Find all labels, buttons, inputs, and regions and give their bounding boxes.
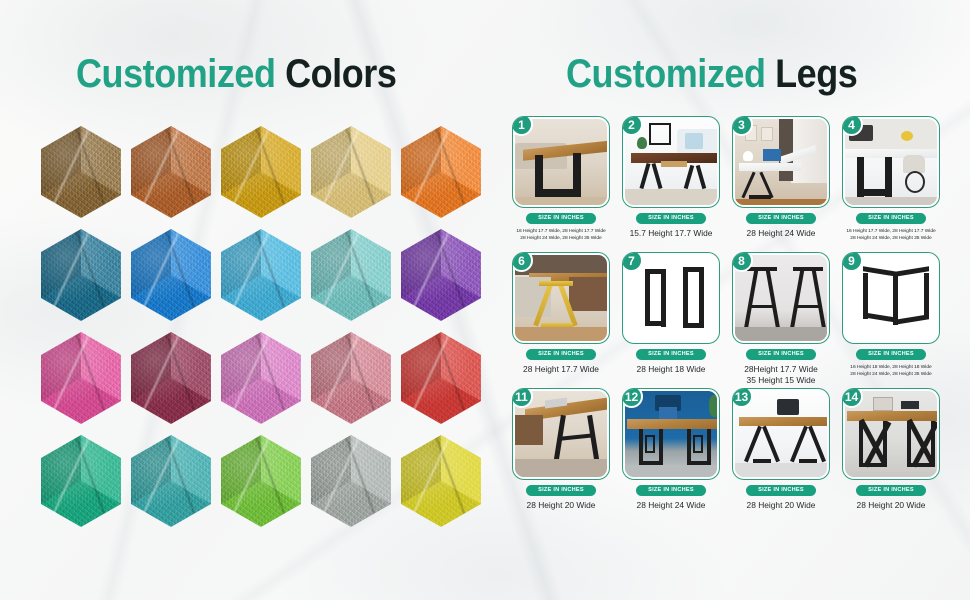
rug-shape bbox=[515, 459, 607, 477]
swatch-crease bbox=[41, 126, 121, 218]
leg-l-link bbox=[645, 435, 655, 453]
leg-card-6[interactable]: 6SIZE IN INCHES28 Height 17.7 Wide bbox=[508, 252, 614, 387]
color-swatch-orchid-pink[interactable] bbox=[221, 332, 301, 424]
color-swatch-lime-green[interactable] bbox=[221, 435, 301, 527]
leg-photo-frame[interactable]: 7 bbox=[622, 252, 720, 344]
leg-photo-frame[interactable]: 1 bbox=[512, 116, 610, 208]
desk-top bbox=[739, 163, 801, 171]
leg-r-link bbox=[693, 435, 703, 453]
leg-a-right bbox=[661, 273, 666, 327]
color-swatch-cell bbox=[126, 328, 216, 431]
swatch-crease bbox=[401, 229, 481, 321]
leg-b-left bbox=[683, 267, 688, 325]
leg-size-text: 16 Height 18 Wide, 28 Height 18 Wide 28 … bbox=[838, 364, 944, 379]
color-swatch-magenta-pink[interactable] bbox=[41, 332, 121, 424]
keyboard bbox=[901, 401, 919, 409]
bottom-bar-right bbox=[895, 314, 929, 324]
leg-r-foot bbox=[907, 463, 935, 467]
page-title-colors: Customized Colors bbox=[76, 52, 396, 97]
swatch-crease bbox=[221, 126, 301, 218]
swatch-crease bbox=[41, 229, 121, 321]
swatch-crease bbox=[41, 332, 121, 424]
leg-photo-frame[interactable]: 13 bbox=[732, 388, 830, 480]
leg-card-11[interactable]: 11SIZE IN INCHES28 Height 20 Wide bbox=[508, 388, 614, 523]
leg-a-left bbox=[645, 269, 650, 325]
color-swatch-grid bbox=[36, 122, 486, 534]
color-swatch-cell bbox=[306, 122, 396, 225]
leg-r-inner bbox=[707, 429, 711, 463]
floor bbox=[735, 327, 827, 341]
color-swatch-sky-blue[interactable] bbox=[221, 229, 301, 321]
swatch-crease bbox=[131, 332, 211, 424]
color-swatch-royal-blue[interactable] bbox=[131, 229, 211, 321]
color-swatch-cell bbox=[396, 328, 486, 431]
leg-a-top bbox=[645, 269, 666, 274]
leg-r-outer bbox=[687, 429, 691, 463]
desk-brace bbox=[561, 433, 593, 440]
color-swatch-cell bbox=[396, 122, 486, 225]
leg-b-right bbox=[699, 271, 704, 327]
leg-size-text: 28 Height 20 Wide bbox=[838, 500, 944, 511]
color-swatch-cell bbox=[36, 431, 126, 534]
plant-shape bbox=[637, 137, 647, 149]
leg-card-9[interactable]: 9SIZE IN INCHES16 Height 18 Wide, 28 Hei… bbox=[838, 252, 944, 387]
leg-a-top bbox=[747, 267, 777, 271]
leg-l-a bbox=[744, 426, 762, 463]
color-swatch-lemon-yellow[interactable] bbox=[401, 435, 481, 527]
color-swatch-violet-purple[interactable] bbox=[401, 229, 481, 321]
wall-frame-b bbox=[761, 127, 773, 141]
leg-card-12[interactable]: 12SIZE IN INCHES28 Height 24 Wide bbox=[618, 388, 724, 523]
color-swatch-cell bbox=[36, 122, 126, 225]
leg-size-text: 15.7 Height 17.7 Wide bbox=[618, 228, 724, 239]
monitor bbox=[777, 399, 799, 415]
leg-a-left bbox=[744, 269, 759, 331]
picture-frame bbox=[873, 397, 893, 411]
page-title-legs: Customized Legs bbox=[566, 52, 857, 97]
floor-wood bbox=[515, 327, 607, 341]
leg-size-text: 28 Height 20 Wide bbox=[508, 500, 614, 511]
sofa-brown bbox=[569, 277, 607, 311]
swatch-crease bbox=[221, 332, 301, 424]
leg-photo-frame[interactable]: 3 bbox=[732, 116, 830, 208]
desk-leg-b bbox=[587, 415, 600, 465]
floor bbox=[845, 197, 937, 205]
curtain-dark bbox=[779, 119, 793, 181]
leg-card-4[interactable]: 4SIZE IN INCHES16 Height 17.7 Wide, 28 H… bbox=[838, 116, 944, 251]
vase bbox=[743, 151, 753, 161]
color-swatch-dusty-rose[interactable] bbox=[311, 332, 391, 424]
table-leg-foot bbox=[535, 189, 581, 197]
color-swatch-cell bbox=[306, 328, 396, 431]
desk-top bbox=[627, 419, 717, 429]
leg-size-text: 28 Height 20 Wide bbox=[728, 500, 834, 511]
swatch-crease bbox=[311, 229, 391, 321]
floor-wood bbox=[735, 199, 827, 205]
color-swatch-cell bbox=[126, 225, 216, 328]
swatch-crease bbox=[401, 332, 481, 424]
leg-right-a bbox=[684, 165, 694, 189]
gold-top-bar bbox=[539, 281, 573, 286]
leg-card-13[interactable]: 13SIZE IN INCHES28 Height 20 Wide bbox=[728, 388, 834, 523]
laptop-screen bbox=[763, 149, 781, 161]
leg-size-text: 28 Height 17.7 Wide bbox=[508, 364, 614, 375]
leg-size-text: 28 Height 18 Wide bbox=[618, 364, 724, 375]
leg-b-left bbox=[790, 269, 805, 331]
size-in-inches-badge: SIZE IN INCHES bbox=[746, 485, 816, 496]
leg-size-text: 28Height 17.7 Wide 35 Height 15 Wide bbox=[728, 364, 834, 386]
leg-photo-frame[interactable]: 8 bbox=[732, 252, 830, 344]
color-swatch-cell bbox=[36, 328, 126, 431]
top-bar-left bbox=[863, 266, 897, 276]
size-in-inches-badge: SIZE IN INCHES bbox=[636, 485, 706, 496]
size-in-inches-badge: SIZE IN INCHES bbox=[526, 485, 596, 496]
color-swatch-cell bbox=[306, 225, 396, 328]
leg-b-top bbox=[683, 267, 704, 272]
leg-photo-frame[interactable]: 2 bbox=[622, 116, 720, 208]
title-colors-accent-word: Customized bbox=[76, 52, 276, 96]
leg-r-b bbox=[808, 426, 826, 463]
color-swatch-emerald-green[interactable] bbox=[41, 435, 121, 527]
swatch-crease bbox=[401, 435, 481, 527]
swatch-crease bbox=[41, 435, 121, 527]
swatch-crease bbox=[131, 229, 211, 321]
plant-shape bbox=[709, 395, 717, 417]
leg-card-3[interactable]: 3SIZE IN INCHES28 Height 24 Wide bbox=[728, 116, 834, 251]
leg-l-b bbox=[762, 426, 780, 463]
leg-size-text: 16 Height 17.7 Wide, 28 Height 17.7 Wide… bbox=[508, 228, 614, 243]
swatch-crease bbox=[131, 435, 211, 527]
floor bbox=[625, 189, 717, 205]
laptop-screen bbox=[659, 407, 677, 419]
leg-l-inner bbox=[659, 429, 663, 463]
leg-photo-frame[interactable]: 6 bbox=[512, 252, 610, 344]
swatch-crease bbox=[131, 126, 211, 218]
leg-photo-frame[interactable]: 4 bbox=[842, 116, 940, 208]
color-swatch-pale-turquoise[interactable] bbox=[311, 229, 391, 321]
leg-size-text: 16 Height 17.7 Wide, 28 Height 17.7 Wide… bbox=[838, 228, 944, 243]
chair-back bbox=[515, 415, 543, 445]
color-swatch-copper-rust[interactable] bbox=[131, 126, 211, 218]
infographic-page: Customized Colors Customized Legs 1SIZE … bbox=[0, 0, 970, 600]
leg-l-outer bbox=[639, 429, 643, 463]
leg-l-foot bbox=[859, 463, 887, 467]
color-swatch-cell bbox=[126, 431, 216, 534]
book-shape bbox=[661, 161, 687, 167]
leg-photo-frame[interactable]: 11 bbox=[512, 388, 610, 480]
size-in-inches-badge: SIZE IN INCHES bbox=[856, 485, 926, 496]
color-swatch-silver-grey[interactable] bbox=[311, 435, 391, 527]
color-swatch-champagne-gold[interactable] bbox=[311, 126, 391, 218]
floor-tile bbox=[735, 463, 827, 477]
bottom-bar-left bbox=[863, 312, 897, 322]
color-swatch-cell bbox=[126, 122, 216, 225]
swatch-crease bbox=[401, 126, 481, 218]
color-swatch-cell bbox=[306, 431, 396, 534]
leg-photo-frame[interactable]: 12 bbox=[622, 388, 720, 480]
size-in-inches-badge: SIZE IN INCHES bbox=[856, 213, 926, 224]
color-swatch-bronze-brown[interactable] bbox=[41, 126, 121, 218]
cushion bbox=[685, 133, 703, 149]
color-swatch-cell bbox=[396, 431, 486, 534]
color-swatch-crimson-red[interactable] bbox=[401, 332, 481, 424]
size-in-inches-badge: SIZE IN INCHES bbox=[746, 349, 816, 360]
outer-leg-right bbox=[924, 273, 929, 319]
size-in-inches-badge: SIZE IN INCHES bbox=[526, 213, 596, 224]
leg-size-text: 28 Height 24 Wide bbox=[618, 500, 724, 511]
leg-photo-frame[interactable]: 14 bbox=[842, 388, 940, 480]
color-swatch-cell bbox=[216, 431, 306, 534]
floor bbox=[625, 465, 717, 477]
counter-foot bbox=[857, 189, 892, 196]
leg-card-7[interactable]: 7SIZE IN INCHES28 Height 18 Wide bbox=[618, 252, 724, 387]
leg-size-text: 28 Height 24 Wide bbox=[728, 228, 834, 239]
color-swatch-cell bbox=[36, 225, 126, 328]
leg-r-a bbox=[790, 426, 808, 463]
swatch-crease bbox=[311, 126, 391, 218]
leg-a-bottom bbox=[645, 321, 666, 326]
size-in-inches-badge: SIZE IN INCHES bbox=[636, 349, 706, 360]
leg-photo-frame[interactable]: 9 bbox=[842, 252, 940, 344]
swatch-crease bbox=[311, 435, 391, 527]
color-swatch-metallic-gold[interactable] bbox=[221, 126, 301, 218]
title-legs-dark-word: Legs bbox=[775, 52, 857, 96]
flowers bbox=[901, 131, 913, 141]
size-in-inches-badge: SIZE IN INCHES bbox=[526, 349, 596, 360]
color-swatch-teal-green[interactable] bbox=[131, 435, 211, 527]
leg-b-right bbox=[812, 269, 827, 331]
color-swatch-burgundy-maroon[interactable] bbox=[131, 332, 211, 424]
stool-frame bbox=[649, 123, 671, 145]
color-swatch-cell bbox=[216, 122, 306, 225]
leg-card-2[interactable]: 2SIZE IN INCHES15.7 Height 17.7 Wide bbox=[618, 116, 724, 251]
size-in-inches-badge: SIZE IN INCHES bbox=[856, 349, 926, 360]
color-swatch-bright-orange[interactable] bbox=[401, 126, 481, 218]
leg-a-brace bbox=[751, 305, 773, 308]
leg-b-bottom bbox=[683, 323, 704, 328]
stool-base bbox=[905, 171, 925, 193]
title-legs-accent-word: Customized bbox=[566, 52, 766, 96]
leg-right-b bbox=[696, 165, 706, 189]
color-swatch-deep-teal-blue[interactable] bbox=[41, 229, 121, 321]
leg-card-1[interactable]: 1SIZE IN INCHES16 Height 17.7 Wide, 28 H… bbox=[508, 116, 614, 251]
floor bbox=[515, 197, 607, 205]
leg-a-right bbox=[766, 269, 781, 331]
leg-b-top bbox=[793, 267, 823, 271]
color-swatch-cell bbox=[216, 225, 306, 328]
color-swatch-cell bbox=[396, 225, 486, 328]
swatch-crease bbox=[221, 229, 301, 321]
leg-card-8[interactable]: 8SIZE IN INCHES28Height 17.7 Wide 35 Hei… bbox=[728, 252, 834, 387]
color-swatch-cell bbox=[216, 328, 306, 431]
leg-b-brace bbox=[797, 305, 819, 308]
leg-card-14[interactable]: 14SIZE IN INCHES28 Height 20 Wide bbox=[838, 388, 944, 523]
legs-card-grid: 1SIZE IN INCHES16 Height 17.7 Wide, 28 H… bbox=[508, 116, 946, 528]
leg-left-a bbox=[639, 163, 650, 189]
swatch-crease bbox=[311, 332, 391, 424]
size-in-inches-badge: SIZE IN INCHES bbox=[636, 213, 706, 224]
desk-top bbox=[739, 417, 827, 426]
title-colors-dark-word: Colors bbox=[285, 52, 396, 96]
swatch-crease bbox=[221, 435, 301, 527]
size-in-inches-badge: SIZE IN INCHES bbox=[746, 213, 816, 224]
